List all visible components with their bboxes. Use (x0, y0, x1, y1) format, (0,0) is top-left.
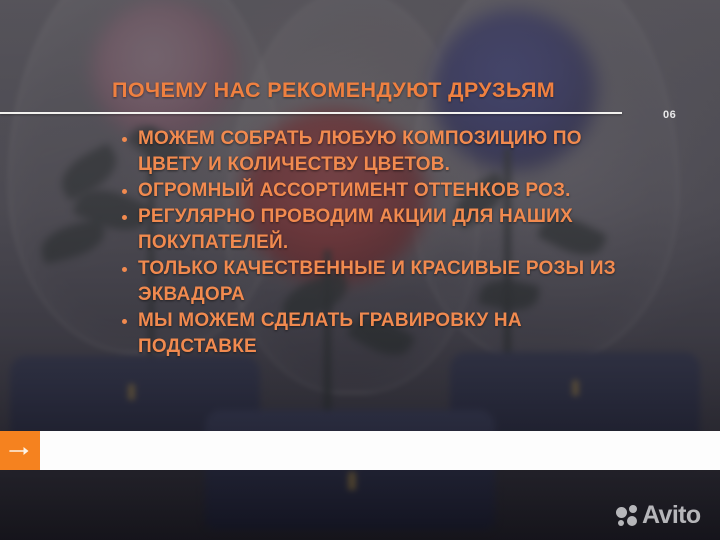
bottom-white-bar (40, 431, 720, 470)
next-slide-button[interactable] (0, 431, 40, 470)
page-number: 06 (663, 109, 676, 121)
list-item: РЕГУЛЯРНО ПРОВОДИМ АКЦИИ ДЛЯ НАШИХ ПОКУП… (116, 204, 646, 256)
benefits-list: МОЖЕМ СОБРАТЬ ЛЮБУЮ КОМПОЗИЦИЮ ПО ЦВЕТУ … (116, 126, 646, 360)
slide-title: ПОЧЕМУ НАС РЕКОМЕНДУЮТ ДРУЗЬЯМ (112, 78, 555, 103)
avito-wordmark: Avito (642, 503, 701, 528)
title-divider (0, 112, 622, 114)
list-item: МОЖЕМ СОБРАТЬ ЛЮБУЮ КОМПОЗИЦИЮ ПО ЦВЕТУ … (116, 126, 646, 178)
slide-content: ПОЧЕМУ НАС РЕКОМЕНДУЮТ ДРУЗЬЯМ 06 МОЖЕМ … (0, 0, 720, 540)
avito-watermark: Avito (616, 503, 701, 528)
arrow-right-icon (9, 445, 31, 457)
avito-logo-icon (616, 505, 638, 527)
list-item: МЫ МОЖЕМ СДЕЛАТЬ ГРАВИРОВКУ НА ПОДСТАВКЕ (116, 308, 646, 360)
list-item: ТОЛЬКО КАЧЕСТВЕННЫЕ И КРАСИВЫЕ РОЗЫ ИЗ Э… (116, 256, 646, 308)
presentation-slide: ПОЧЕМУ НАС РЕКОМЕНДУЮТ ДРУЗЬЯМ 06 МОЖЕМ … (0, 0, 720, 540)
list-item: ОГРОМНЫЙ АССОРТИМЕНТ ОТТЕНКОВ РОЗ. (116, 178, 646, 204)
